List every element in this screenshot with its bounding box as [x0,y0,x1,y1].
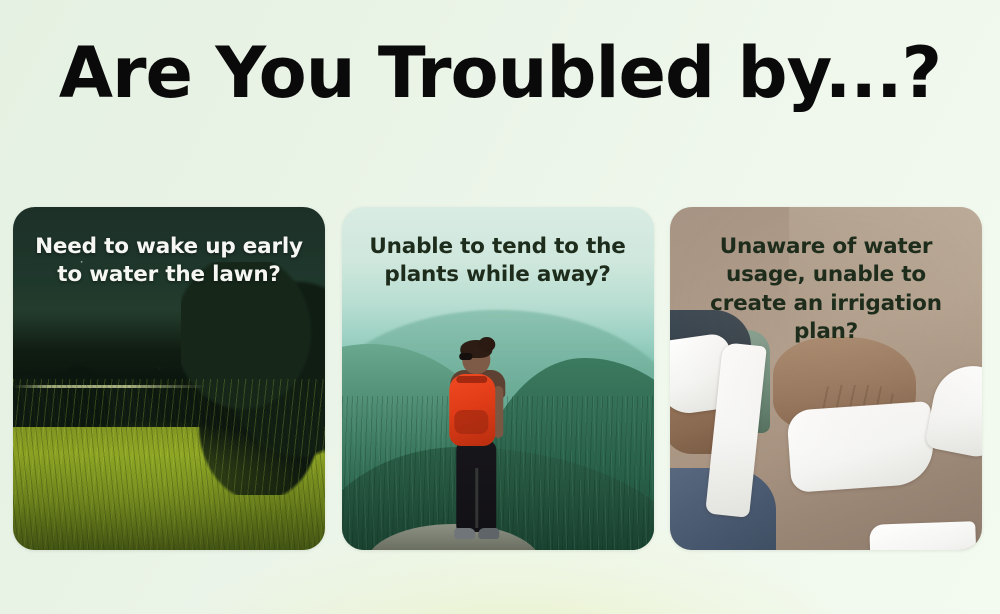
hiker-backpack-pocket [454,410,488,434]
grass-shadow [13,454,325,550]
slide-root: Are You Troubled by...? Need to wake up … [0,0,1000,614]
card-caption-wake-up-early: Need to wake up early to water the lawn? [13,233,325,290]
page-title: Are You Troubled by...? [0,38,1000,108]
hiker-shoe-right [478,528,499,539]
hiker-hair-bun [478,337,495,352]
card-plants-while-away[interactable]: Unable to tend to the plants while away? [342,207,654,550]
card-caption-irrigation-plan: Unaware of water usage, unable to create… [670,233,982,347]
hiker-backpack-strap [456,376,487,383]
hiker-sunglasses [459,353,472,360]
hiker-shoe-left [454,528,475,539]
card-wake-up-early[interactable]: Need to wake up early to water the lawn? [13,207,325,550]
hiker-leg-split [475,468,478,528]
card-irrigation-plan[interactable]: Unaware of water usage, unable to create… [670,207,982,550]
hiker-figure [440,340,514,548]
cards-row: Need to wake up early to water the lawn? [13,207,982,550]
card-caption-plants-while-away: Unable to tend to the plants while away? [342,233,654,290]
